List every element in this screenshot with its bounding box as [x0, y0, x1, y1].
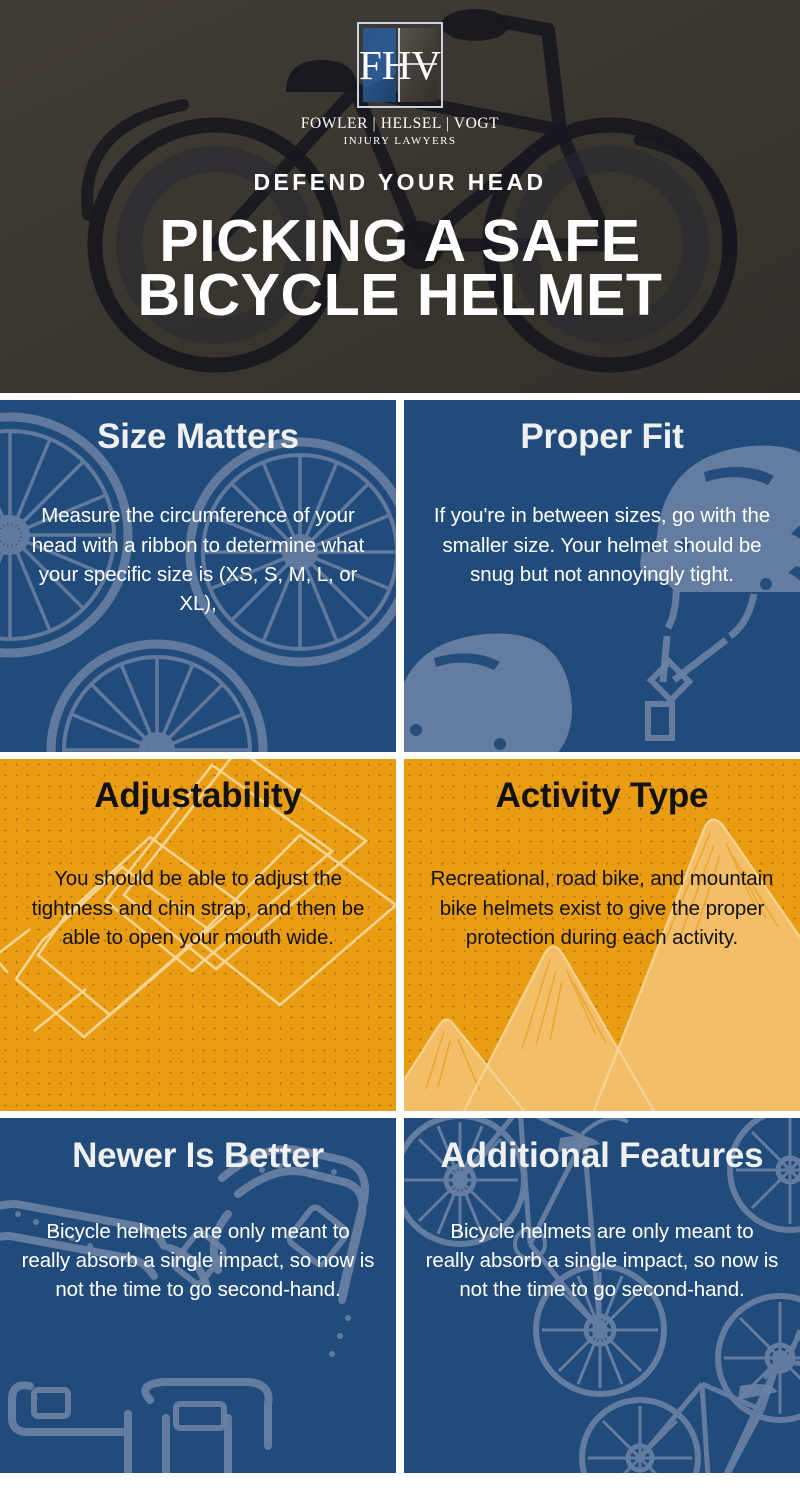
- panel-activity-type: Activity Type Recreational, road bike, a…: [404, 759, 800, 1111]
- panel-adjustability: Adjustability You should be able to adju…: [0, 759, 396, 1111]
- firm-tagline: INJURY LAWYERS: [344, 135, 457, 147]
- panel-newer-is-better: Newer Is Better Bicycle helmets are only…: [0, 1118, 396, 1473]
- panel-body: Recreational, road bike, and mountain bi…: [424, 864, 780, 951]
- panel-title: Additional Features: [424, 1136, 780, 1175]
- infographic-root: FHV FOWLER | HELSEL | VOGT INJURY LAWYER…: [0, 0, 800, 1500]
- panel-body: Bicycle helmets are only meant to really…: [20, 1217, 376, 1304]
- page-title: PICKING A SAFE BICYCLE HELMET: [138, 214, 663, 323]
- panel-additional-features: Additional Features Bicycle helmets are …: [404, 1118, 800, 1473]
- svg-text:FHV: FHV: [359, 42, 441, 88]
- panel-title: Size Matters: [20, 418, 376, 455]
- header-banner: FHV FOWLER | HELSEL | VOGT INJURY LAWYER…: [0, 0, 800, 393]
- firm-logo: FHV FOWLER | HELSEL | VOGT INJURY LAWYER…: [301, 22, 500, 147]
- panel-title: Adjustability: [20, 777, 376, 814]
- panel-body: Measure the circumference of your head w…: [20, 501, 376, 617]
- panel-title: Proper Fit: [424, 418, 780, 455]
- fhv-monogram-logo-icon: FHV: [357, 22, 443, 108]
- panel-title: Newer Is Better: [20, 1136, 376, 1175]
- panel-body: Bicycle helmets are only meant to really…: [424, 1217, 780, 1304]
- header-kicker: DEFEND YOUR HEAD: [254, 169, 547, 196]
- panel-body: You should be able to adjust the tightne…: [20, 864, 376, 951]
- headline-line-1: PICKING A SAFE: [138, 214, 663, 268]
- firm-name: FOWLER | HELSEL | VOGT: [301, 115, 500, 133]
- tips-grid: Size Matters Measure the circumference o…: [0, 393, 800, 1485]
- panel-title: Activity Type: [424, 777, 780, 814]
- panel-size-matters: Size Matters Measure the circumference o…: [0, 400, 396, 752]
- headline-line-2: BICYCLE HELMET: [138, 268, 663, 322]
- panel-body: If you're in between sizes, go with the …: [424, 501, 780, 588]
- panel-proper-fit: Proper Fit If you're in between sizes, g…: [404, 400, 800, 752]
